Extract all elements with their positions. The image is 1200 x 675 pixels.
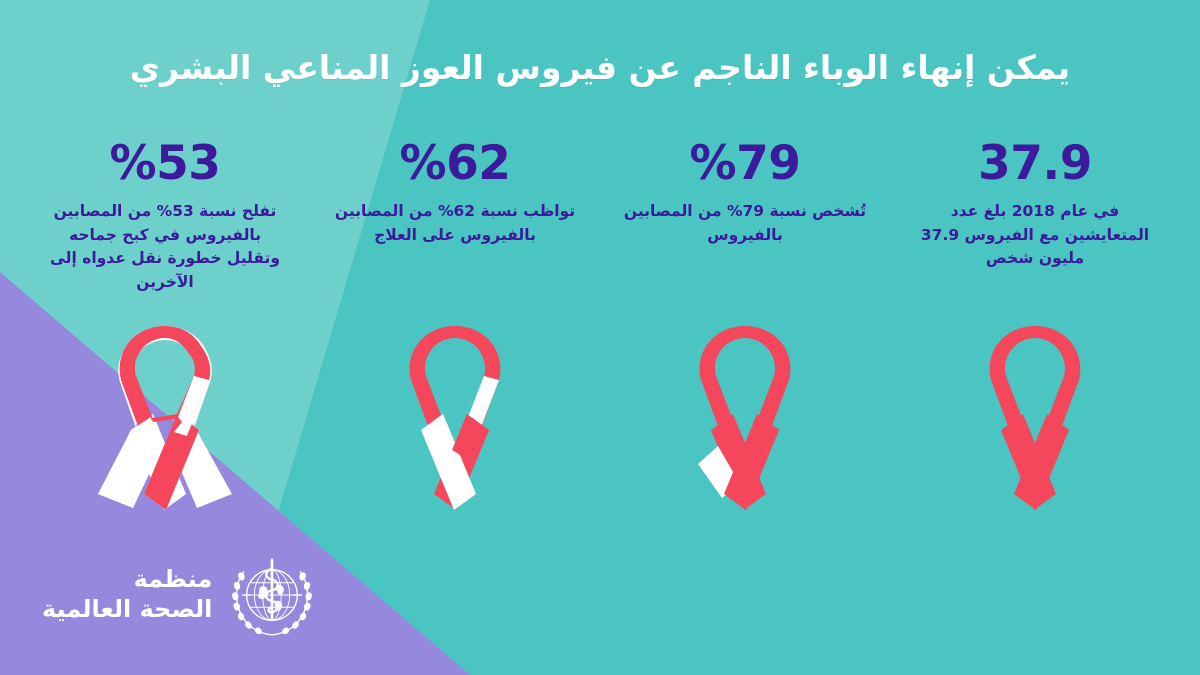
awareness-ribbon-icon-53 (90, 318, 240, 518)
ribbon-shape-79 (698, 326, 790, 510)
stat-description-62: تواظب نسبة 62% من المصابين بالفيروس على … (316, 200, 594, 247)
stat-description-53: تفلح نسبة 53% من المصابين بالفيروس في كب… (26, 200, 304, 294)
who-logo: منظمة الصحة العالمية (42, 549, 318, 641)
stat-item-79: %79 تُشخص نسبة 79% من المصابين بالفيروس (606, 140, 884, 294)
stats-row: %53 تفلح نسبة 53% من المصابين بالفيروس ف… (0, 140, 1200, 294)
stat-description-79: تُشخص نسبة 79% من المصابين بالفيروس (606, 200, 884, 247)
ribbon-cell-53 (26, 318, 304, 518)
who-organization-name: منظمة الصحة العالمية (42, 565, 212, 625)
stat-item-53: %53 تفلح نسبة 53% من المصابين بالفيروس ف… (26, 140, 304, 294)
awareness-ribbon-icon-79 (670, 318, 820, 518)
stat-description-379: في عام 2018 بلغ عدد المتعايشين مع الفيرو… (896, 200, 1174, 271)
stat-value-379: 37.9 (896, 140, 1174, 187)
infographic-poster: يمكن إنهاء الوباء الناجم عن فيروس العوز … (0, 0, 1200, 675)
stat-item-379: 37.9 في عام 2018 بلغ عدد المتعايشين مع ا… (896, 140, 1174, 294)
stat-value-79: %79 (606, 140, 884, 187)
stat-value-62: %62 (316, 140, 594, 187)
ribbons-row (0, 318, 1200, 518)
ribbon-shape-full (990, 326, 1081, 510)
awareness-ribbon-icon-full (960, 318, 1110, 518)
ribbon-cell-79 (606, 318, 884, 518)
stat-value-53: %53 (26, 140, 304, 187)
who-emblem-icon (226, 549, 318, 641)
page-title: يمكن إنهاء الوباء الناجم عن فيروس العوز … (0, 46, 1200, 90)
awareness-ribbon-icon-62 (380, 318, 530, 518)
ribbon-cell-379 (896, 318, 1174, 518)
ribbon-shape-62 (410, 326, 501, 510)
stat-item-62: %62 تواظب نسبة 62% من المصابين بالفيروس … (316, 140, 594, 294)
ribbon-cell-62 (316, 318, 594, 518)
